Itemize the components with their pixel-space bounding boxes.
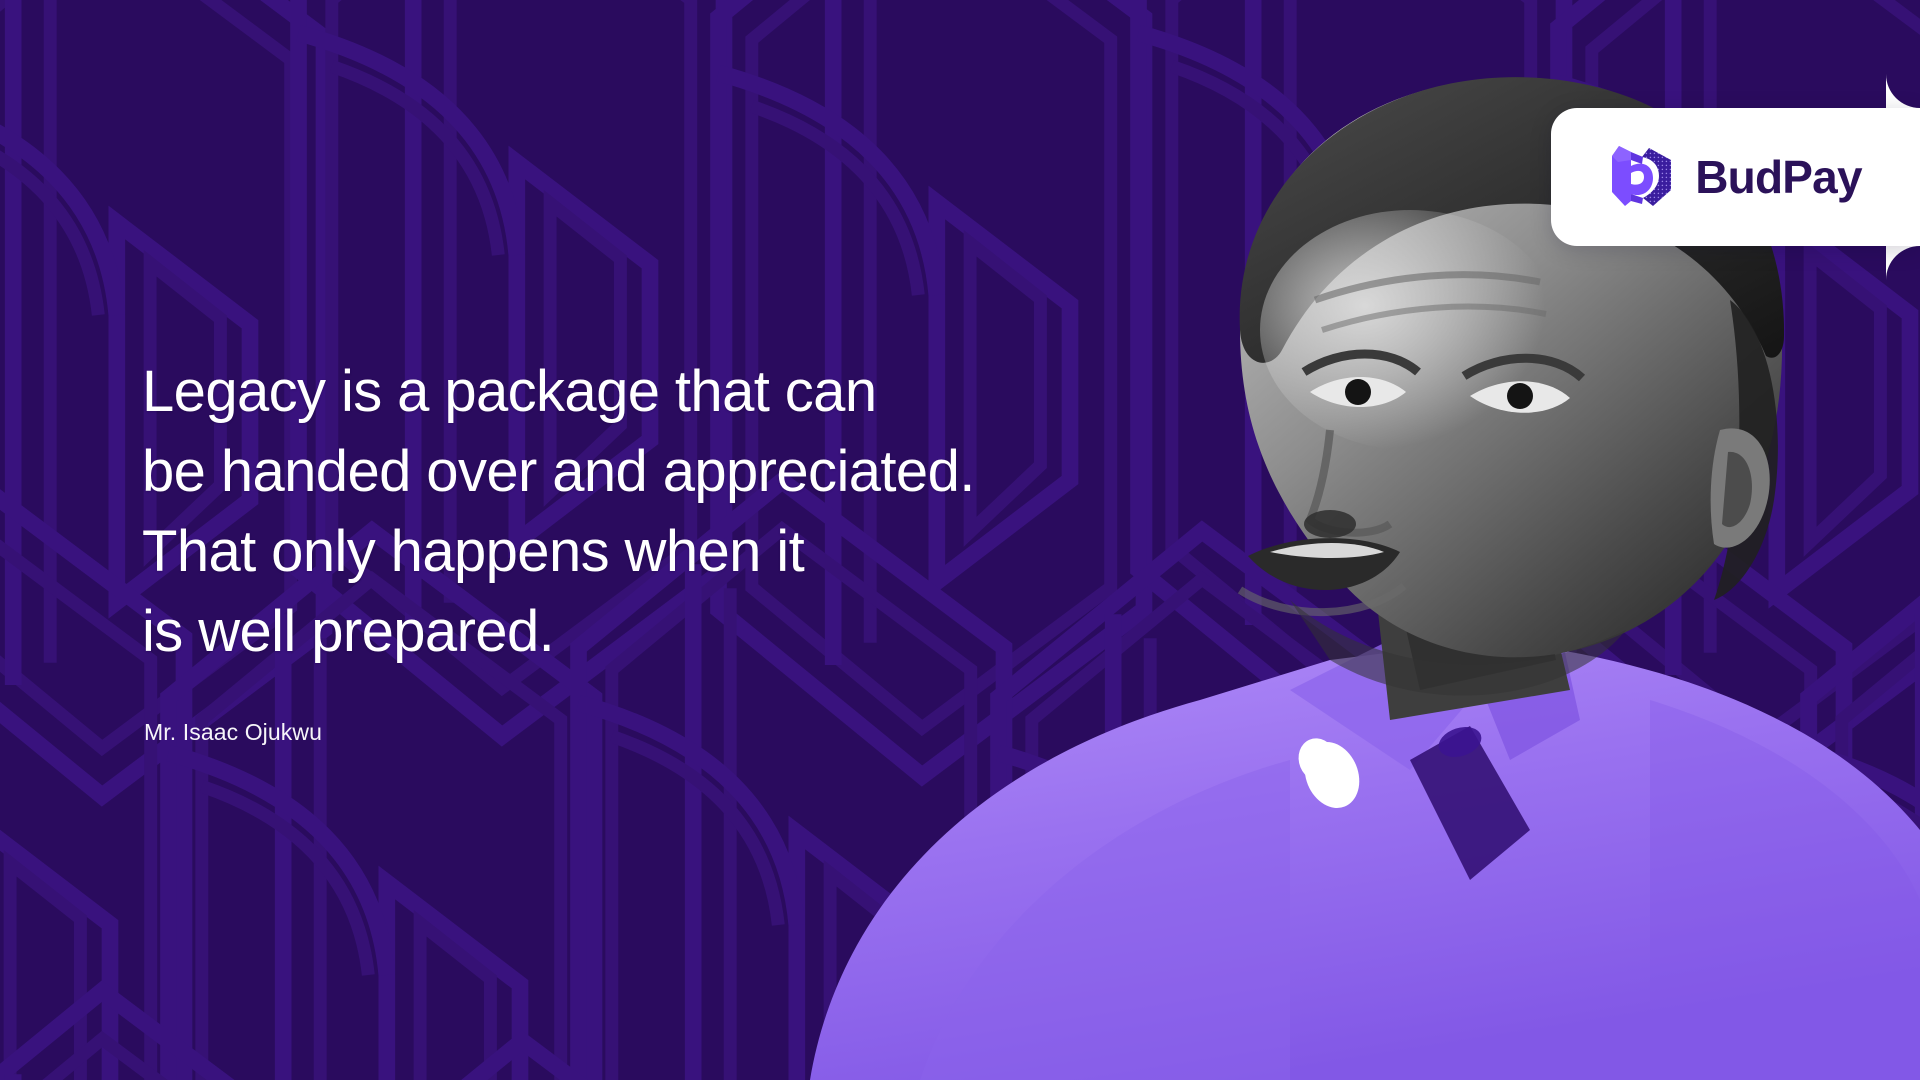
card-notch-bottom xyxy=(1886,246,1920,280)
card-notch-top xyxy=(1886,74,1920,108)
quote-line-1: Legacy is a package that can xyxy=(142,352,1222,432)
quote-line-3: That only happens when it xyxy=(142,512,1222,592)
quote-line-2: be handed over and appreciated. xyxy=(142,432,1222,512)
quote-line-4: is well prepared. xyxy=(142,592,1222,672)
budpay-wordmark: BudPay xyxy=(1695,154,1861,200)
budpay-b-monogram-icon xyxy=(1609,140,1677,214)
brand-logo-card[interactable]: BudPay xyxy=(1551,108,1920,246)
quote-text: Legacy is a package that can be handed o… xyxy=(142,352,1222,672)
quote-card-canvas: Legacy is a package that can be handed o… xyxy=(0,0,1920,1080)
quote-attribution: Mr. Isaac Ojukwu xyxy=(144,719,322,746)
